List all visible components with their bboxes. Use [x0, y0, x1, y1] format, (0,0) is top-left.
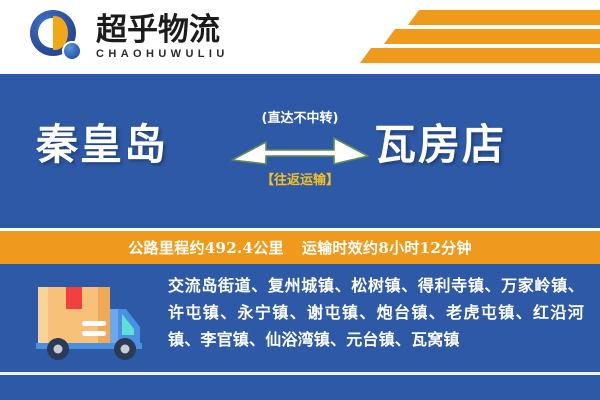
brand-name-en: CHAOHUWULIU	[96, 48, 229, 60]
divider	[0, 372, 600, 375]
double-arrow-icon	[228, 134, 372, 168]
stripe-2	[384, 29, 600, 44]
delivery-truck-icon	[30, 281, 148, 363]
orange-diagonal-stripes-icon	[350, 6, 600, 68]
circle-crescent-logo-icon	[28, 8, 86, 66]
duration-text: 运输时效约8小时12分钟	[302, 237, 472, 258]
coverage-areas-text: 交流岛街道、复州城镇、松树镇、得利寺镇、万家岭镇、许屯镇、永宁镇、谢屯镇、炮台镇…	[168, 272, 584, 353]
brand-logo: 超乎物流 CHAOHUWULIU	[28, 8, 229, 66]
destination-city: 瓦房店	[374, 124, 506, 166]
distance-text: 公路里程约492.4公里	[128, 237, 284, 258]
route-middle-block: (直达不中转) 【往返运输】	[228, 112, 372, 187]
origin-city: 秦皇岛	[36, 124, 168, 166]
info-bar: 公路里程约492.4公里 运输时效约8小时12分钟	[0, 231, 600, 264]
stripe-3	[360, 48, 600, 63]
brand-text: 超乎物流 CHAOHUWULIU	[96, 14, 229, 61]
header: 超乎物流 CHAOHUWULIU	[0, 0, 600, 72]
roundtrip-note: 【往返运输】	[228, 174, 372, 187]
stripe-1	[408, 10, 600, 25]
brand-name-cn: 超乎物流	[96, 14, 229, 47]
logistics-route-poster: 超乎物流 CHAOHUWULIU 秦皇岛 瓦房店 (直达不中转) 【往返运输】 …	[0, 0, 600, 400]
direct-route-note: (直达不中转)	[228, 112, 372, 125]
logo-dot-shape	[62, 41, 82, 61]
